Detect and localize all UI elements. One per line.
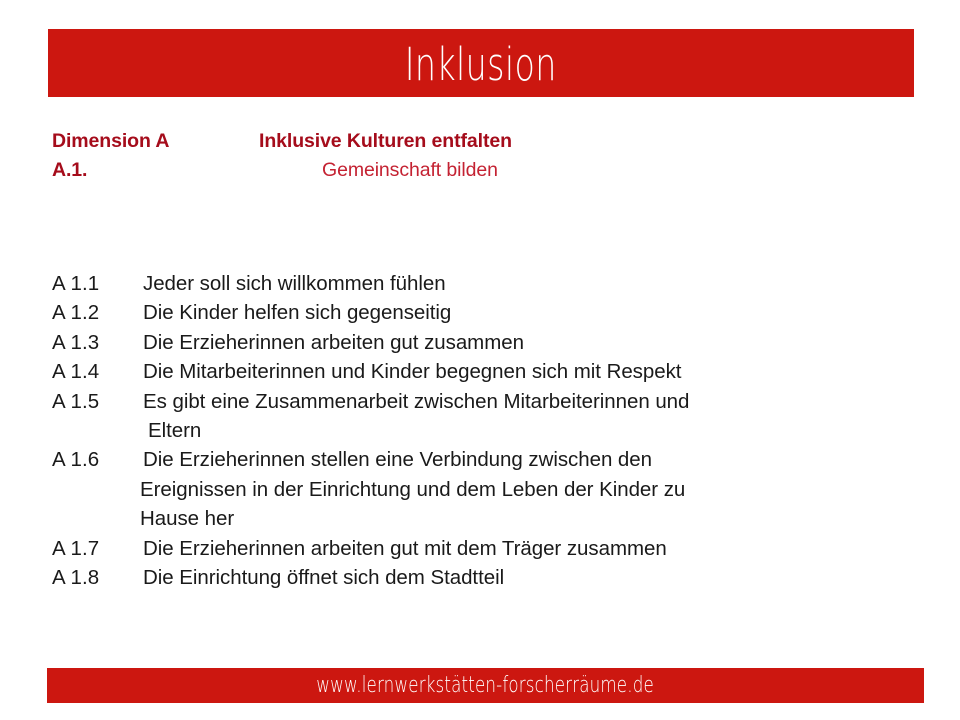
indicator-text: Eltern: [148, 419, 201, 443]
indicator-code: A 1.4: [52, 360, 99, 384]
indicator-code: A 1.3: [52, 331, 99, 355]
indicator-code: A 1.5: [52, 390, 99, 414]
header-banner: Inklusion: [48, 29, 914, 97]
list-item: A 1.8 Die Einrichtung öffnet sich dem St…: [52, 566, 912, 595]
footer-banner: www.lernwerkstätten-forscherräume.de: [47, 668, 924, 703]
indicator-code: A 1.7: [52, 537, 99, 561]
list-item: A 1.3 Die Erzieherinnen arbeiten gut zus…: [52, 331, 912, 360]
slide-canvas: Inklusion Dimension A Inklusive Kulturen…: [0, 0, 960, 720]
list-item: A 1.5 Es gibt eine Zusammenarbeit zwisch…: [52, 390, 912, 419]
indicator-code: A 1.2: [52, 301, 99, 325]
heading-row-section: A.1. Gemeinschaft bilden: [52, 159, 892, 188]
indicator-text: Die Erzieherinnen arbeiten gut mit dem T…: [143, 537, 667, 561]
dimension-heading-block: Dimension A Inklusive Kulturen entfalten…: [52, 130, 892, 188]
footer-url: www.lernwerkstätten-forscherräume.de: [317, 675, 655, 697]
list-item: A 1.4 Die Mitarbeiterinnen und Kinder be…: [52, 360, 912, 389]
indicator-code: A 1.1: [52, 272, 99, 296]
indicator-text: Die Erzieherinnen arbeiten gut zusammen: [143, 331, 524, 355]
list-item: A 1.6 Die Erzieherinnen stellen eine Ver…: [52, 448, 912, 477]
indicator-text: Ereignissen in der Einrichtung und dem L…: [140, 478, 685, 502]
page-title: Inklusion: [405, 42, 557, 87]
list-item: A 1.1 Jeder soll sich willkommen fühlen: [52, 272, 912, 301]
indicator-code: A 1.6: [52, 448, 99, 472]
indicator-text: Die Kinder helfen sich gegenseitig: [143, 301, 451, 325]
indicator-text: Die Erzieherinnen stellen eine Verbindun…: [143, 448, 652, 472]
list-item-continuation: Hause her: [52, 507, 912, 536]
indicator-list: A 1.1 Jeder soll sich willkommen fühlen …: [52, 272, 912, 595]
section-title: Gemeinschaft bilden: [322, 159, 498, 182]
indicator-code: A 1.8: [52, 566, 99, 590]
indicator-text: Es gibt eine Zusammenarbeit zwischen Mit…: [143, 390, 689, 414]
indicator-text: Die Einrichtung öffnet sich dem Stadttei…: [143, 566, 504, 590]
list-item: A 1.2 Die Kinder helfen sich gegenseitig: [52, 301, 912, 330]
list-item-continuation: Eltern: [52, 419, 912, 448]
indicator-text: Jeder soll sich willkommen fühlen: [143, 272, 446, 296]
list-item-continuation: Ereignissen in der Einrichtung und dem L…: [52, 478, 912, 507]
indicator-text: Die Mitarbeiterinnen und Kinder begegnen…: [143, 360, 681, 384]
section-label: A.1.: [52, 159, 87, 182]
list-item: A 1.7 Die Erzieherinnen arbeiten gut mit…: [52, 537, 912, 566]
indicator-text: Hause her: [140, 507, 234, 531]
heading-row-dimension: Dimension A Inklusive Kulturen entfalten: [52, 130, 892, 159]
dimension-label: Dimension A: [52, 130, 169, 153]
dimension-title: Inklusive Kulturen entfalten: [259, 130, 512, 153]
